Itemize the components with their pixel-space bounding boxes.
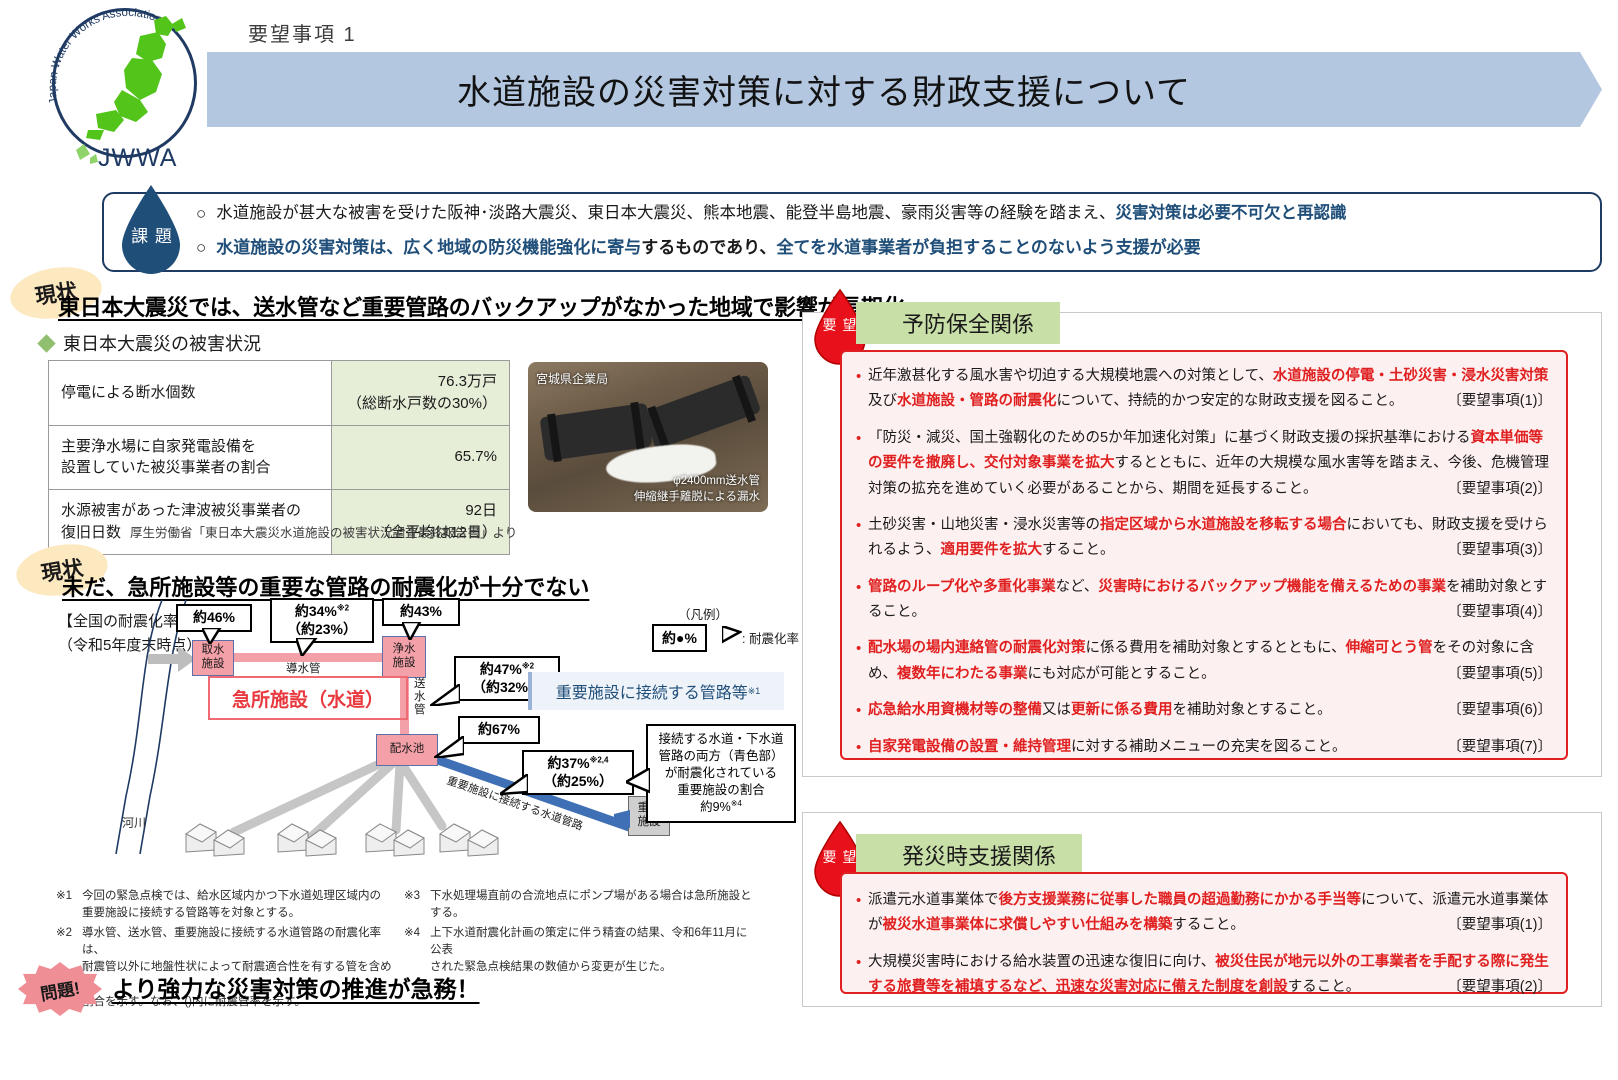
legend-sample-callout: 約●% bbox=[652, 624, 707, 652]
request-text: 大規模災害時における給水装置の迅速な復旧に向け、被災住民が地元以外の工事業者を手… bbox=[868, 950, 1552, 1001]
bullet-dot-icon: • bbox=[856, 698, 868, 724]
callout-tail-transmission bbox=[430, 684, 460, 706]
pipe-segment-right bbox=[643, 374, 762, 450]
table-cell-value: 76.3万戸（総断水戸数の30%） bbox=[332, 361, 510, 426]
request-item: •近年激甚化する風水害や切迫する大規模地震への対策として、水道施設の停電・土砂災… bbox=[856, 364, 1552, 415]
hassai-panel-title: 発災時支援関係 bbox=[856, 834, 1082, 876]
page-title: 水道施設の災害対策に対する財政支援について bbox=[457, 65, 1191, 114]
footnote-text: 下水処理場直前の合流地点にポンプ場がある場合は急所施設とする。 bbox=[430, 888, 754, 923]
footnote-mark: ※3 bbox=[404, 888, 430, 923]
request-tag: 〔要望事項(2)〕 bbox=[1447, 477, 1552, 502]
bullet-dot-icon: • bbox=[856, 636, 868, 687]
transmission-pipe-label: 送 水 管 bbox=[414, 678, 426, 717]
logo-wordmark: JWWA bbox=[98, 144, 177, 173]
request-item: •「防災・減災、国土強靱化のための5か年加速化対策」に基づく財政支援の採択基準に… bbox=[856, 426, 1552, 502]
yobo-panel-title: 予防保全関係 bbox=[856, 302, 1060, 344]
callout-tail-reservoir bbox=[434, 736, 464, 758]
water-supply-schematic: 【全国の耐震化率】 （令和5年度末時点） 河川 重要施 bbox=[30, 596, 800, 861]
bullet-circle-icon: ○ bbox=[196, 198, 206, 230]
bullet-circle-icon: ○ bbox=[196, 232, 206, 264]
request-item: •大規模災害時における給水装置の迅速な復旧に向け、被災住民が地元以外の工事業者を… bbox=[856, 950, 1552, 1001]
request-text: 管路のループ化や多重化事業など、災害時におけるバックアップ機能を備えるための事業… bbox=[868, 575, 1552, 626]
document-label: 要望事項 1 bbox=[248, 18, 357, 47]
request-tag: 〔要望事項(2)〕 bbox=[1447, 975, 1552, 1000]
request-tag: 〔要望事項(4)〕 bbox=[1447, 600, 1552, 625]
request-item: •派遣元水道事業体で後方支援業務に従事した職員の超過勤務にかかる手当等について、… bbox=[856, 888, 1552, 939]
title-banner: 水道施設の災害対策に対する財政支援について bbox=[207, 52, 1602, 127]
table-cell-label: 主要浄水場に自家発電設備を 設置していた被災事業者の割合 bbox=[49, 425, 332, 490]
bullet-dot-icon: • bbox=[856, 735, 868, 761]
bullet-dot-icon: • bbox=[856, 950, 868, 1001]
problem-badge-label: 問題! bbox=[38, 973, 81, 1005]
request-text: 派遣元水道事業体で後方支援業務に従事した職員の超過勤務にかかる手当等について、派… bbox=[868, 888, 1552, 939]
section1-subhead: 東日本大震災の被害状況 bbox=[63, 330, 261, 356]
table-cell-value: 65.7% bbox=[332, 425, 510, 490]
request-item: •自家発電設備の設置・維持管理に対する補助メニューの充実を図ること。〔要望事項(… bbox=[856, 735, 1552, 761]
node-purification-facility: 浄水 施設 bbox=[382, 636, 426, 678]
request-item: •配水場の場内連絡管の耐震化対策に係る費用を補助対象とするとともに、伸縮可とう管… bbox=[856, 636, 1552, 687]
kadai-line-1-text: 水道施設が甚大な被害を受けた阪神･淡路大震災、東日本大震災、熊本地震、能登半島地… bbox=[216, 198, 1346, 229]
svg-text:✳: ✳ bbox=[100, 110, 111, 125]
kadai-line-2: ○ 水道施設の災害対策は、広く地域の防災機能強化に寄与するものであり、全てを水道… bbox=[196, 232, 1594, 264]
callout-tail-intake bbox=[202, 628, 222, 644]
diamond-bullet-icon bbox=[37, 334, 55, 352]
request-tag: 〔要望事項(1)〕 bbox=[1447, 913, 1552, 938]
section1-headline: 東日本大震災では、送水管など重要管路のバックアップがなかった地域で影響が長期化 bbox=[58, 290, 904, 322]
river-label: 河川 bbox=[122, 814, 146, 831]
blue-note-box: 接続する水道・下水道 管路の両方（青色部） が耐震化されている 重要施設の割合 … bbox=[646, 724, 796, 823]
footnote-item: ※4上下水道耐震化計画の策定に伴う精査の結果、令和6年11月に公表 された緊急点… bbox=[404, 925, 754, 977]
callout-important-route: 約37%※2,4 （約25%） bbox=[522, 750, 634, 795]
blue-connector-icon bbox=[614, 810, 632, 830]
request-tag: 〔要望事項(6)〕 bbox=[1447, 698, 1552, 723]
kadai-badge-label: 課 題 bbox=[128, 222, 176, 247]
footnote-text: 今回の緊急点検では、給水区域内かつ下水道処理区域内の 重要施設に接続する管路等を… bbox=[82, 888, 396, 923]
problem-statement: より強力な災害対策の推進が急務！ bbox=[112, 970, 480, 1004]
callout-tail-important bbox=[500, 774, 528, 796]
node-distribution-reservoir: 配水池 bbox=[376, 734, 438, 766]
request-item: •土砂災害・山地災害・浸水災害等の指定区域から水道施設を移転する場合においても、… bbox=[856, 513, 1552, 564]
kadai-line-1: ○ 水道施設が甚大な被害を受けた阪神･淡路大震災、東日本大震災、熊本地震、能登半… bbox=[196, 198, 1594, 230]
inflow-arrow-icon bbox=[148, 646, 196, 672]
bullet-dot-icon: • bbox=[856, 426, 868, 502]
node-intake-facility: 取水 施設 bbox=[192, 640, 234, 676]
request-item: •応急給水用資機材等の整備又は更新に係る費用を補助対象とすること。〔要望事項(6… bbox=[856, 698, 1552, 724]
request-tag: 〔要望事項(5)〕 bbox=[1447, 662, 1552, 687]
japan-map-icon: ✳ bbox=[70, 14, 200, 164]
callout-tail-conduit bbox=[296, 638, 318, 656]
request-text: 「防災・減災、国土強靱化のための5か年加速化対策」に基づく財政支援の採択基準にお… bbox=[868, 426, 1552, 502]
table-cell-label: 停電による断水個数 bbox=[49, 361, 332, 426]
request-tag: 〔要望事項(1)〕 bbox=[1447, 389, 1552, 414]
photo-caption: φ2400mm送水管 伸縮継手離脱による漏水 bbox=[634, 473, 760, 506]
table-attribution: 厚生労働省「東日本大震災水道施設の被害状況調査最終報告書」より bbox=[130, 522, 517, 541]
callout-tail-purification bbox=[402, 622, 422, 640]
table-row: 停電による断水個数76.3万戸（総断水戸数の30%） bbox=[49, 361, 510, 426]
footnote-mark: ※1 bbox=[56, 888, 82, 923]
conduit-pipe-label: 導水管 bbox=[286, 660, 321, 676]
callout-reservoir: 約67% bbox=[458, 716, 540, 744]
legend-title: （凡例） bbox=[678, 604, 728, 623]
request-text: 配水場の場内連絡管の耐震化対策に係る費用を補助対象とするとともに、伸縮可とう管を… bbox=[868, 636, 1552, 687]
damaged-pipe-photo: 宮城県企業局 φ2400mm送水管 伸縮継手離脱による漏水 bbox=[528, 362, 768, 512]
footnote-mark: ※4 bbox=[404, 925, 430, 977]
houses-icons bbox=[180, 804, 510, 862]
kadai-line-2-text: 水道施設の災害対策は、広く地域の防災機能強化に寄与するものであり、全てを水道事業… bbox=[216, 232, 1200, 264]
kyusho-facility-box: 急所施設（水道） bbox=[208, 676, 408, 720]
footnotes-right: ※3下水処理場直前の合流地点にポンプ場がある場合は急所施設とする。※4上下水道耐… bbox=[404, 888, 754, 978]
section1-subhead-row: 東日本大震災の被害状況 bbox=[40, 330, 261, 356]
yobo-request-list: •近年激甚化する風水害や切迫する大規模地震への対策として、水道施設の停電・土砂災… bbox=[840, 350, 1568, 760]
legend-meaning: : 耐震化率 bbox=[742, 628, 799, 647]
request-tag: 〔要望事項(7)〕 bbox=[1447, 735, 1552, 760]
bullet-dot-icon: • bbox=[856, 888, 868, 939]
photo-credit: 宮城県企業局 bbox=[536, 370, 608, 387]
callout-conduit: 約34%※2 （約23%） bbox=[270, 598, 374, 643]
request-text: 近年激甚化する風水害や切迫する大規模地震への対策として、水道施設の停電・土砂災害… bbox=[868, 364, 1552, 415]
kadai-content: ○ 水道施設が甚大な被害を受けた阪神･淡路大震災、東日本大震災、熊本地震、能登半… bbox=[196, 198, 1594, 267]
footnote-item: ※3下水処理場直前の合流地点にポンプ場がある場合は急所施設とする。 bbox=[404, 888, 754, 923]
request-tag: 〔要望事項(3)〕 bbox=[1447, 538, 1552, 563]
bullet-dot-icon: • bbox=[856, 575, 868, 626]
request-text: 自家発電設備の設置・維持管理に対する補助メニューの充実を図ること。〔要望事項(7… bbox=[868, 735, 1552, 761]
bullet-dot-icon: • bbox=[856, 513, 868, 564]
important-facility-band: 重要施設に接続する管路等※1 bbox=[528, 672, 784, 710]
legend-tail-icon bbox=[722, 626, 742, 644]
hassai-request-list: •派遣元水道事業体で後方支援業務に従事した職員の超過勤務にかかる手当等について、… bbox=[840, 872, 1568, 994]
slide-page: Japan Water Works Association ✳ JWWA 要望事… bbox=[0, 0, 1618, 1080]
blue-note-tail-icon bbox=[626, 768, 650, 794]
request-item: •管路のループ化や多重化事業など、災害時におけるバックアップ機能を備えるための事… bbox=[856, 575, 1552, 626]
bullet-dot-icon: • bbox=[856, 364, 868, 415]
table-row: 主要浄水場に自家発電設備を 設置していた被災事業者の割合65.7% bbox=[49, 425, 510, 490]
footnote-item: ※1今回の緊急点検では、給水区域内かつ下水道処理区域内の 重要施設に接続する管路… bbox=[56, 888, 396, 923]
footnote-text: 上下水道耐震化計画の策定に伴う精査の結果、令和6年11月に公表 された緊急点検結… bbox=[430, 925, 754, 977]
jwwa-logo: Japan Water Works Association ✳ JWWA bbox=[40, 4, 220, 179]
request-text: 土砂災害・山地災害・浸水災害等の指定区域から水道施設を移転する場合においても、財… bbox=[868, 513, 1552, 564]
request-text: 応急給水用資機材等の整備又は更新に係る費用を補助対象とすること。〔要望事項(6)… bbox=[868, 698, 1552, 724]
